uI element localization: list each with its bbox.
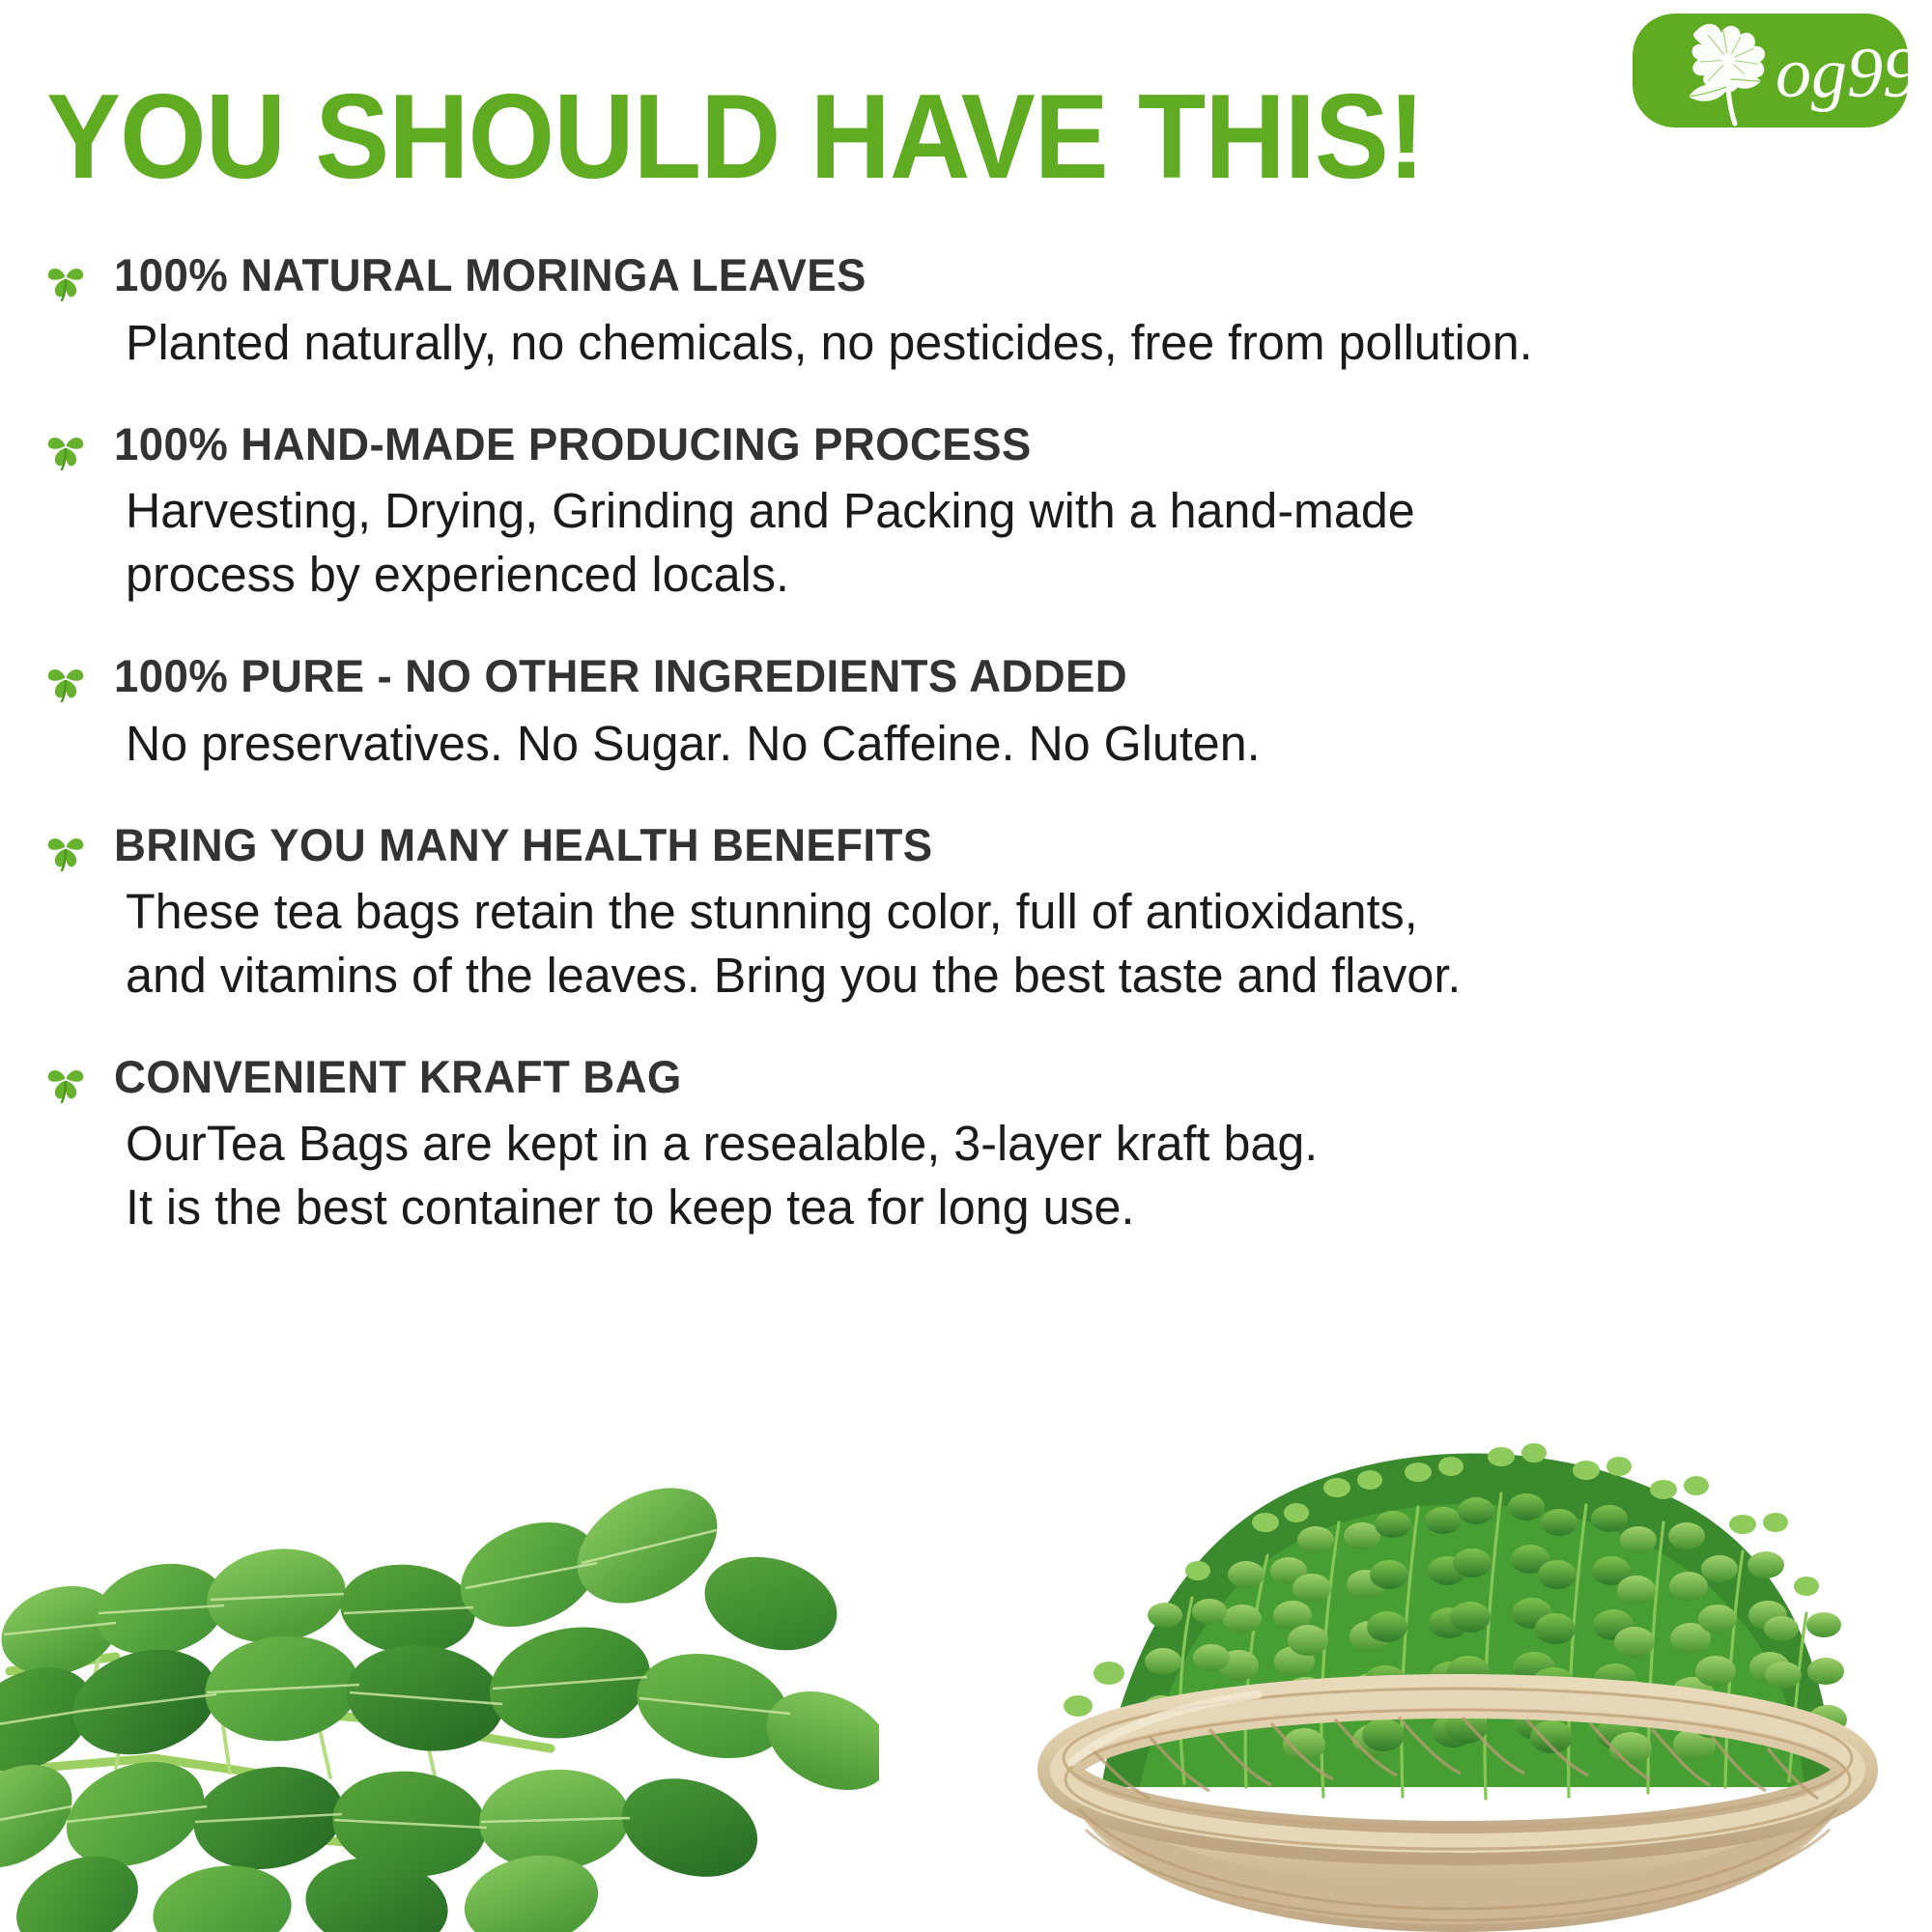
- feature-title: CONVENIENT KRAFT BAG: [114, 1051, 1844, 1103]
- feature-title: BRING YOU MANY HEALTH BENEFITS: [114, 819, 1844, 871]
- moringa-basket-photo: [956, 1333, 1932, 1932]
- feature-title: 100% PURE - NO OTHER INGREDIENTS ADDED: [114, 650, 1844, 702]
- feature-item: 100% PURE - NO OTHER INGREDIENTS ADDED N…: [43, 650, 1897, 775]
- feature-body-line: Harvesting, Drying, Grinding and Packing…: [126, 479, 1870, 542]
- feature-body: These tea bags retain the stunning color…: [126, 880, 1870, 1007]
- feature-body: Planted naturally, no chemicals, no pest…: [126, 311, 1870, 374]
- feature-item: CONVENIENT KRAFT BAG OurTea Bags are kep…: [43, 1051, 1897, 1238]
- logo-wordmark: og999: [1776, 34, 1908, 113]
- feature-item: BRING YOU MANY HEALTH BENEFITS These tea…: [43, 819, 1897, 1007]
- feature-body: No preservatives. No Sugar. No Caffeine.…: [126, 712, 1870, 775]
- feature-title: 100% HAND-MADE PRODUCING PROCESS: [114, 418, 1844, 470]
- moringa-leaves-pile-photo: [0, 1430, 879, 1932]
- clover-icon: [44, 825, 87, 871]
- feature-body: Harvesting, Drying, Grinding and Packing…: [126, 479, 1870, 606]
- clover-icon: [44, 1057, 87, 1103]
- feature-body: OurTea Bags are kept in a resealable, 3-…: [126, 1112, 1870, 1238]
- clover-icon: [44, 424, 87, 470]
- feature-body-line: No preservatives. No Sugar. No Caffeine.…: [126, 712, 1870, 775]
- feature-body-line: process by experienced locals.: [126, 543, 1870, 606]
- feature-body-line: OurTea Bags are kept in a resealable, 3-…: [126, 1112, 1870, 1175]
- feature-item: 100% NATURAL MORINGA LEAVES Planted natu…: [43, 249, 1897, 374]
- page-title: YOU SHOULD HAVE THIS!: [46, 77, 1424, 197]
- feature-body-line: and vitamins of the leaves. Bring you th…: [126, 944, 1870, 1007]
- feature-body-line: Planted naturally, no chemicals, no pest…: [126, 311, 1870, 374]
- feature-body-line: It is the best container to keep tea for…: [126, 1176, 1870, 1238]
- flower-icon: [1689, 24, 1765, 124]
- clover-icon: [44, 656, 87, 702]
- feature-body-line: These tea bags retain the stunning color…: [126, 880, 1870, 943]
- wicker-basket: [1060, 1689, 1856, 1932]
- brand-logo-badge[interactable]: og999: [1633, 14, 1908, 128]
- clover-icon: [44, 255, 87, 301]
- feature-title: 100% NATURAL MORINGA LEAVES: [114, 249, 1844, 301]
- feature-item: 100% HAND-MADE PRODUCING PROCESS Harvest…: [43, 418, 1897, 606]
- product-feature-poster: og999 YOU SHOULD HAVE THIS! 100% NATURAL…: [0, 0, 1932, 1932]
- feature-list: 100% NATURAL MORINGA LEAVES Planted natu…: [43, 249, 1897, 1238]
